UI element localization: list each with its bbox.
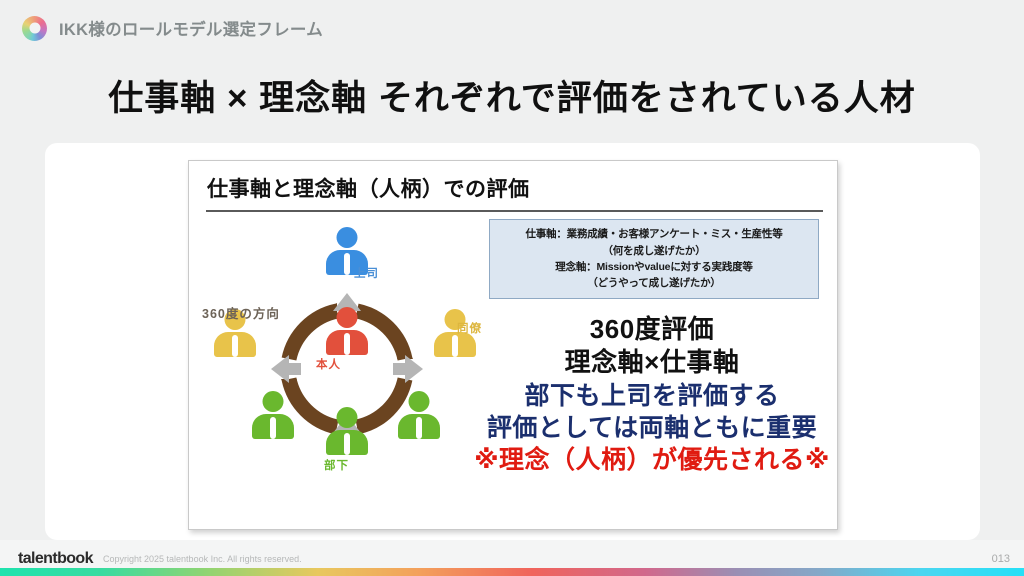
- person-tie: [452, 335, 458, 357]
- axis-definition-line: 理念軸：Missionやvalueに対する実践度等: [555, 259, 752, 275]
- diagram-label-self: 本人: [316, 356, 341, 372]
- diagram-label-direction: 360度の方向: [202, 303, 280, 322]
- talentbook-ring-logo-icon: [22, 16, 47, 41]
- person-self: [321, 307, 373, 355]
- person-head: [337, 227, 358, 248]
- axis-definition-box: 仕事軸：業務成績・お客様アンケート・ミス・生産性等 （何を成し遂げたか） 理念軸…: [489, 219, 819, 299]
- footer-copyright: Copyright 2025 talentbook Inc. All right…: [103, 554, 302, 564]
- person-tie: [270, 417, 276, 439]
- header-title: IKK様のロールモデル選定フレーム: [59, 16, 323, 40]
- footer-gradient-bar: [0, 568, 1024, 576]
- app-header: IKK様のロールモデル選定フレーム: [0, 0, 1024, 56]
- person-head: [409, 391, 430, 412]
- message-line: 360度評価: [472, 313, 832, 346]
- diagram-label-subordinate: 部下: [324, 457, 349, 473]
- message-line: ※理念（人柄）が優先される※: [472, 444, 832, 476]
- message-line: 部下も上司を評価する: [472, 380, 832, 412]
- person-subordinate-left: [247, 391, 299, 439]
- footer-wordmark: talentbook: [18, 550, 93, 568]
- panel-title-rule: [206, 210, 823, 212]
- diagram-label-peer: 同僚: [457, 320, 482, 336]
- person-tie: [344, 253, 350, 275]
- evaluation-message-block: 360度評価 理念軸×仕事軸 部下も上司を評価する 評価としては両軸ともに重要 …: [472, 313, 832, 476]
- person-head: [263, 391, 284, 412]
- message-line: 理念軸×仕事軸: [472, 346, 832, 379]
- person-subordinate-center: [321, 407, 373, 455]
- person-tie: [344, 433, 350, 455]
- page-number: 013: [992, 553, 1010, 565]
- axis-definition-line: 仕事軸：業務成績・お客様アンケート・ミス・生産性等: [525, 226, 782, 242]
- slide-panel: 仕事軸と理念軸（人柄）での評価 仕事軸：業務成績・お客様アンケート・ミス・生産性…: [188, 160, 838, 530]
- message-line: 評価としては両軸ともに重要: [472, 412, 832, 444]
- 360-feedback-diagram: 上司 同僚 本人: [197, 219, 497, 519]
- person-tie: [344, 333, 350, 355]
- panel-title: 仕事軸と理念軸（人柄）での評価: [207, 173, 530, 203]
- axis-definition-line: （何を成し遂げたか）: [603, 243, 706, 259]
- person-head: [337, 307, 358, 328]
- page-title: 仕事軸 × 理念軸 それぞれで評価をされている人材: [0, 70, 1024, 121]
- person-tie: [416, 417, 422, 439]
- person-head: [337, 407, 358, 428]
- person-subordinate-right: [393, 391, 445, 439]
- person-tie: [232, 335, 238, 357]
- axis-definition-line: （どうやって成し遂げたか）: [587, 275, 720, 291]
- diagram-label-boss: 上司: [354, 265, 379, 281]
